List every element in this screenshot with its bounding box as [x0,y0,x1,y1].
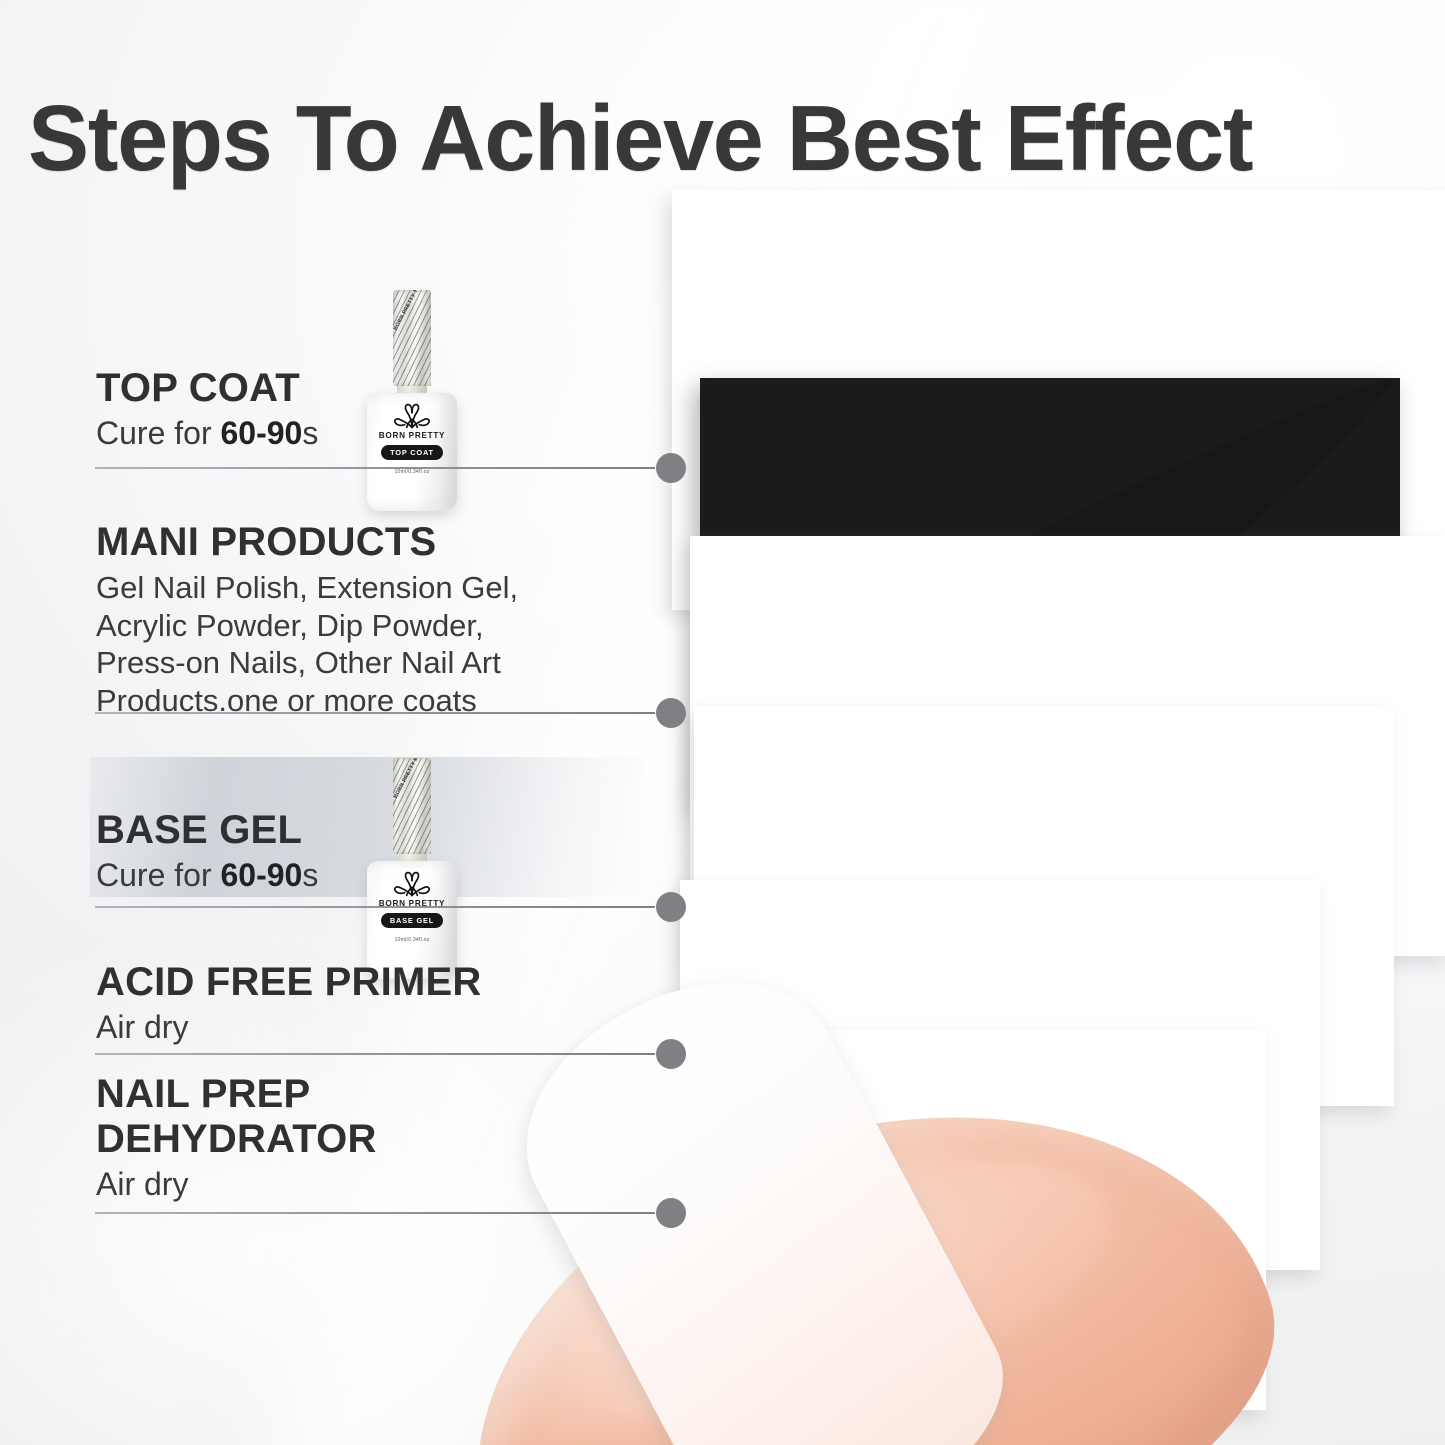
cure-duration-base: 60-90 [220,857,302,893]
born-pretty-flower-logo [392,870,432,898]
connector-line-nail-prep-dehydrator [95,1212,655,1214]
step-nail-prep-dehydrator[interactable]: NAIL PREP DEHYDRATOR Air dry [96,1072,377,1204]
step-base-gel-subtitle: Cure for 60-90s [96,855,318,895]
bottle-volume-top-coat: 10ml/0.34fl.oz [367,469,457,475]
step-nail-prep-dehydrator-heading: NAIL PREP DEHYDRATOR [96,1072,377,1162]
connector-dot-base-gel [656,892,686,922]
cure-prefix-base: Cure for [96,857,220,893]
page-title: Steps To Achieve Best Effect [28,92,1407,185]
nail-tip-white-3 [694,706,1394,1106]
bottle-cap-text-top-coat: BORN PRETTY TOP COAT BORN PRETTY TOP COA… [393,290,431,332]
born-pretty-flower-logo [392,402,432,430]
bottle-body-top-coat: BORN PRETTY TOP COAT 10ml/0.34fl.oz [367,393,457,511]
bottle-label-base-gel: BASE GEL [381,913,443,928]
bottle-cap-text-base-gel: BORN PRETTY BASE GEL BORN PRETTY BASE GE… [393,758,431,800]
connector-line-acid-free-primer [95,1053,655,1055]
step-acid-free-primer-description: Air dry [96,1007,481,1047]
infographic-canvas: Steps To Achieve Best Effect TOP COAT Cu… [0,0,1445,1445]
nail-tips-artwork [0,0,1445,1445]
nail-tip-white-2 [690,536,1445,956]
connector-dot-mani-products [656,698,686,728]
connector-line-top-coat [95,467,655,469]
connector-dot-acid-free-primer [656,1039,686,1069]
bottle-volume-base-gel: 10ml/0.34fl.oz [367,937,457,943]
nail-tip-white-4 [680,880,1320,1270]
nail-tip-white-1 [672,190,1445,610]
connector-line-base-gel [95,906,655,908]
connector-line-mani-products [95,712,655,714]
connector-dot-top-coat [656,453,686,483]
fingertip-highlight [542,1109,1139,1445]
background-sheen [259,0,1121,1445]
fingertip [401,1022,1323,1445]
background-glow-right [895,0,1445,500]
bottle-cap-base-gel: BORN PRETTY BASE GEL BORN PRETTY BASE GE… [393,758,431,854]
cure-suffix: s [302,415,318,451]
cure-suffix-base: s [302,857,318,893]
nail-tip-white-5 [666,1030,1266,1410]
step-base-gel[interactable]: BASE GEL Cure for 60-90s [96,808,318,895]
bottle-brand-top-coat: BORN PRETTY [367,431,457,440]
fingertip-nail-extension [484,933,1038,1445]
step-top-coat[interactable]: TOP COAT Cure for 60-90s [96,366,318,453]
step-acid-free-primer[interactable]: ACID FREE PRIMER Air dry [96,960,481,1047]
nail-tip-black [700,378,1400,808]
step-top-coat-subtitle: Cure for 60-90s [96,413,318,453]
step-mani-products-heading: MANI PRODUCTS [96,520,518,565]
step-mani-products[interactable]: MANI PRODUCTS Gel Nail Polish, Extension… [96,520,518,720]
bottle-label-top-coat: TOP COAT [381,445,443,460]
step-mani-products-description: Gel Nail Polish, Extension Gel, Acrylic … [96,569,518,720]
cure-duration: 60-90 [220,415,302,451]
bottle-top-coat[interactable]: BORN PRETTY TOP COAT BORN PRETTY TOP COA… [366,290,458,511]
step-top-coat-heading: TOP COAT [96,366,318,411]
step-base-gel-heading: BASE GEL [96,808,318,853]
step-nail-prep-dehydrator-description: Air dry [96,1164,377,1204]
step-acid-free-primer-heading: ACID FREE PRIMER [96,960,481,1005]
cure-prefix: Cure for [96,415,220,451]
bottle-base-gel[interactable]: BORN PRETTY BASE GEL BORN PRETTY BASE GE… [366,758,458,979]
connector-dot-nail-prep-dehydrator [656,1198,686,1228]
bottle-cap-top-coat: BORN PRETTY TOP COAT BORN PRETTY TOP COA… [393,290,431,386]
